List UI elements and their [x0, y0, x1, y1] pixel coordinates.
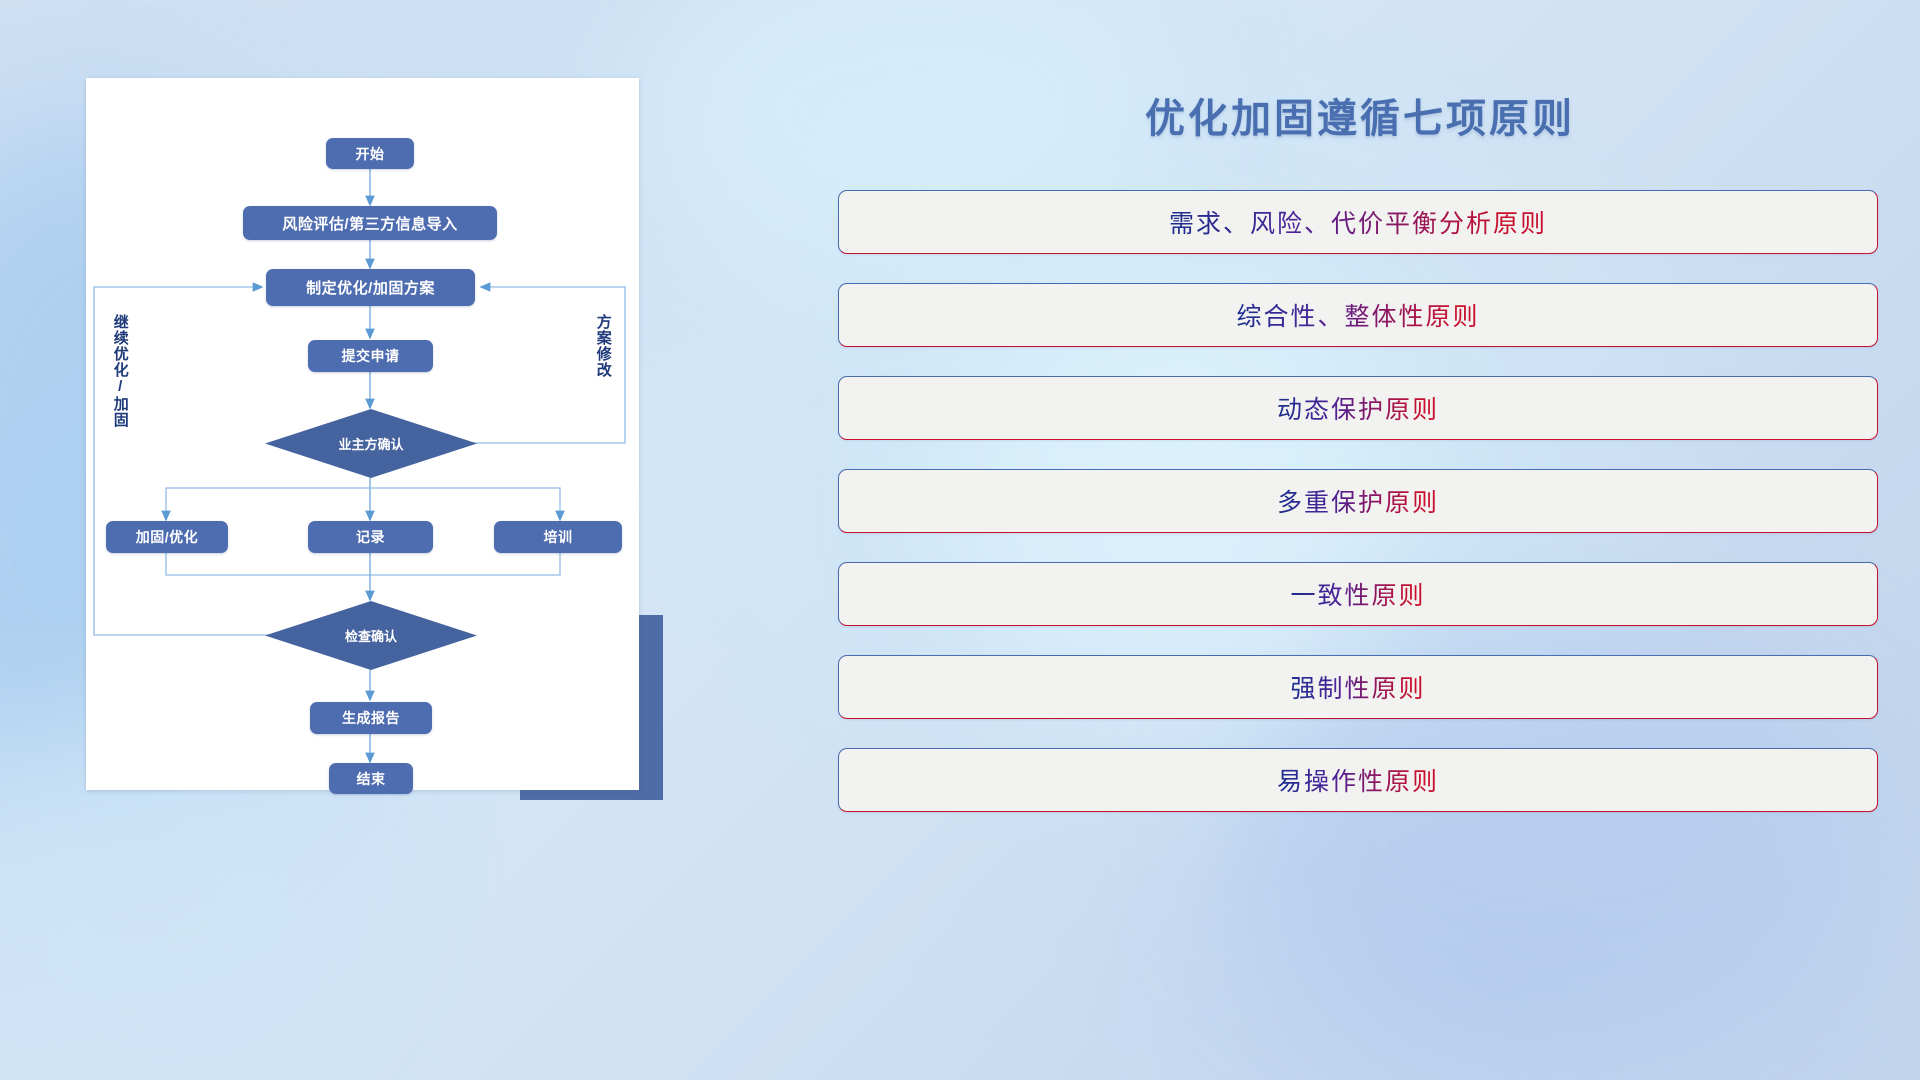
flow-node-end[interactable]: 结束 — [329, 763, 413, 794]
principle-label: 多重保护原则 — [1277, 483, 1439, 519]
principle-item-4[interactable]: 多重保护原则 — [838, 469, 1878, 533]
flow-node-label: 结束 — [357, 769, 386, 789]
flow-node-owner-confirm[interactable]: 业主方确认 — [265, 409, 477, 478]
principle-label: 动态保护原则 — [1277, 390, 1439, 426]
flow-node-label: 开始 — [356, 144, 385, 164]
flow-node-label: 提交申请 — [342, 346, 400, 366]
flow-node-label: 生成报告 — [342, 708, 400, 728]
flow-node-training[interactable]: 培训 — [494, 521, 622, 553]
flow-node-start[interactable]: 开始 — [326, 138, 414, 169]
principle-item-5[interactable]: 一致性原则 — [838, 562, 1878, 626]
flow-node-submit-application[interactable]: 提交申请 — [308, 340, 433, 372]
principle-label: 需求、风险、代价平衡分析原则 — [1169, 204, 1547, 240]
flow-node-generate-report[interactable]: 生成报告 — [310, 702, 432, 734]
principles-list: 需求、风险、代价平衡分析原则 综合性、整体性原则 动态保护原则 多重保护原则 一… — [838, 190, 1878, 841]
principle-item-6[interactable]: 强制性原则 — [838, 655, 1878, 719]
flow-node-label: 制定优化/加固方案 — [306, 277, 435, 298]
flow-node-plan[interactable]: 制定优化/加固方案 — [266, 269, 475, 306]
flow-edge-label-plan-revision: 方案修改 — [595, 314, 611, 414]
flow-node-label: 检查确认 — [345, 626, 397, 645]
flowchart-card: 开始 风险评估/第三方信息导入 制定优化/加固方案 提交申请 业主方确认 加固/… — [86, 78, 639, 790]
principle-label: 易操作性原则 — [1277, 762, 1439, 798]
principle-item-7[interactable]: 易操作性原则 — [838, 748, 1878, 812]
principle-label: 强制性原则 — [1290, 669, 1425, 705]
principle-item-1[interactable]: 需求、风险、代价平衡分析原则 — [838, 190, 1878, 254]
flow-edge-label-continue-optimize: 继续优化/加固 — [112, 314, 128, 444]
flow-node-record[interactable]: 记录 — [308, 521, 433, 553]
principle-label: 综合性、整体性原则 — [1236, 297, 1479, 333]
flow-node-label: 培训 — [544, 527, 573, 547]
principle-label: 一致性原则 — [1290, 576, 1425, 612]
flow-node-label: 加固/优化 — [136, 527, 198, 547]
flow-node-reinforce-optimize[interactable]: 加固/优化 — [106, 521, 228, 553]
flow-node-inspection-confirm[interactable]: 检查确认 — [265, 601, 477, 670]
principle-item-2[interactable]: 综合性、整体性原则 — [838, 283, 1878, 347]
flow-node-label: 业主方确认 — [338, 434, 403, 453]
principles-pane: 优化加固遵循七项原则 需求、风险、代价平衡分析原则 综合性、整体性原则 动态保护… — [800, 0, 1920, 1080]
page-title: 优化加固遵循七项原则 — [800, 86, 1920, 144]
principle-item-3[interactable]: 动态保护原则 — [838, 376, 1878, 440]
flow-node-risk-assessment[interactable]: 风险评估/第三方信息导入 — [243, 206, 497, 240]
flow-node-label: 记录 — [356, 527, 385, 547]
flow-node-label: 风险评估/第三方信息导入 — [282, 213, 457, 234]
